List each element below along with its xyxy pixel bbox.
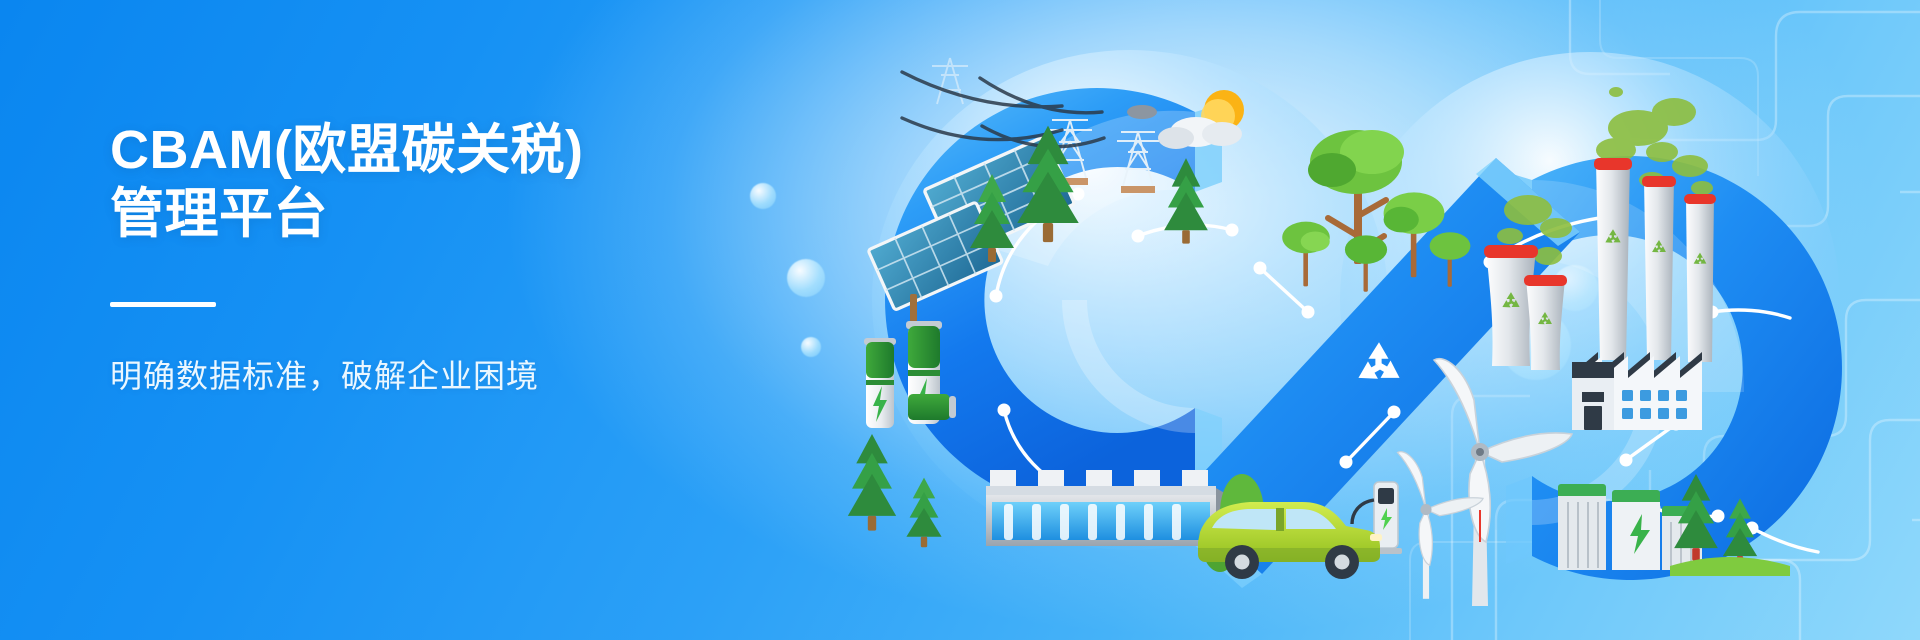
carbon-neutral-illustration xyxy=(790,0,1920,640)
page-subtitle: 明确数据标准，破解企业困境 xyxy=(110,355,583,397)
decorative-bubble xyxy=(750,183,776,209)
page-title-line-1: CBAM(欧盟碳关税) xyxy=(110,120,583,180)
title-divider xyxy=(110,302,216,307)
page-title: CBAM(欧盟碳关税) 管理平台 xyxy=(110,118,583,246)
cbam-hero-banner: CBAM(欧盟碳关税) 管理平台 明确数据标准，破解企业困境 xyxy=(0,0,1920,640)
hero-copy-block: CBAM(欧盟碳关税) 管理平台 明确数据标准，破解企业困境 xyxy=(110,118,583,397)
page-title-line-2: 管理平台 xyxy=(110,182,583,246)
